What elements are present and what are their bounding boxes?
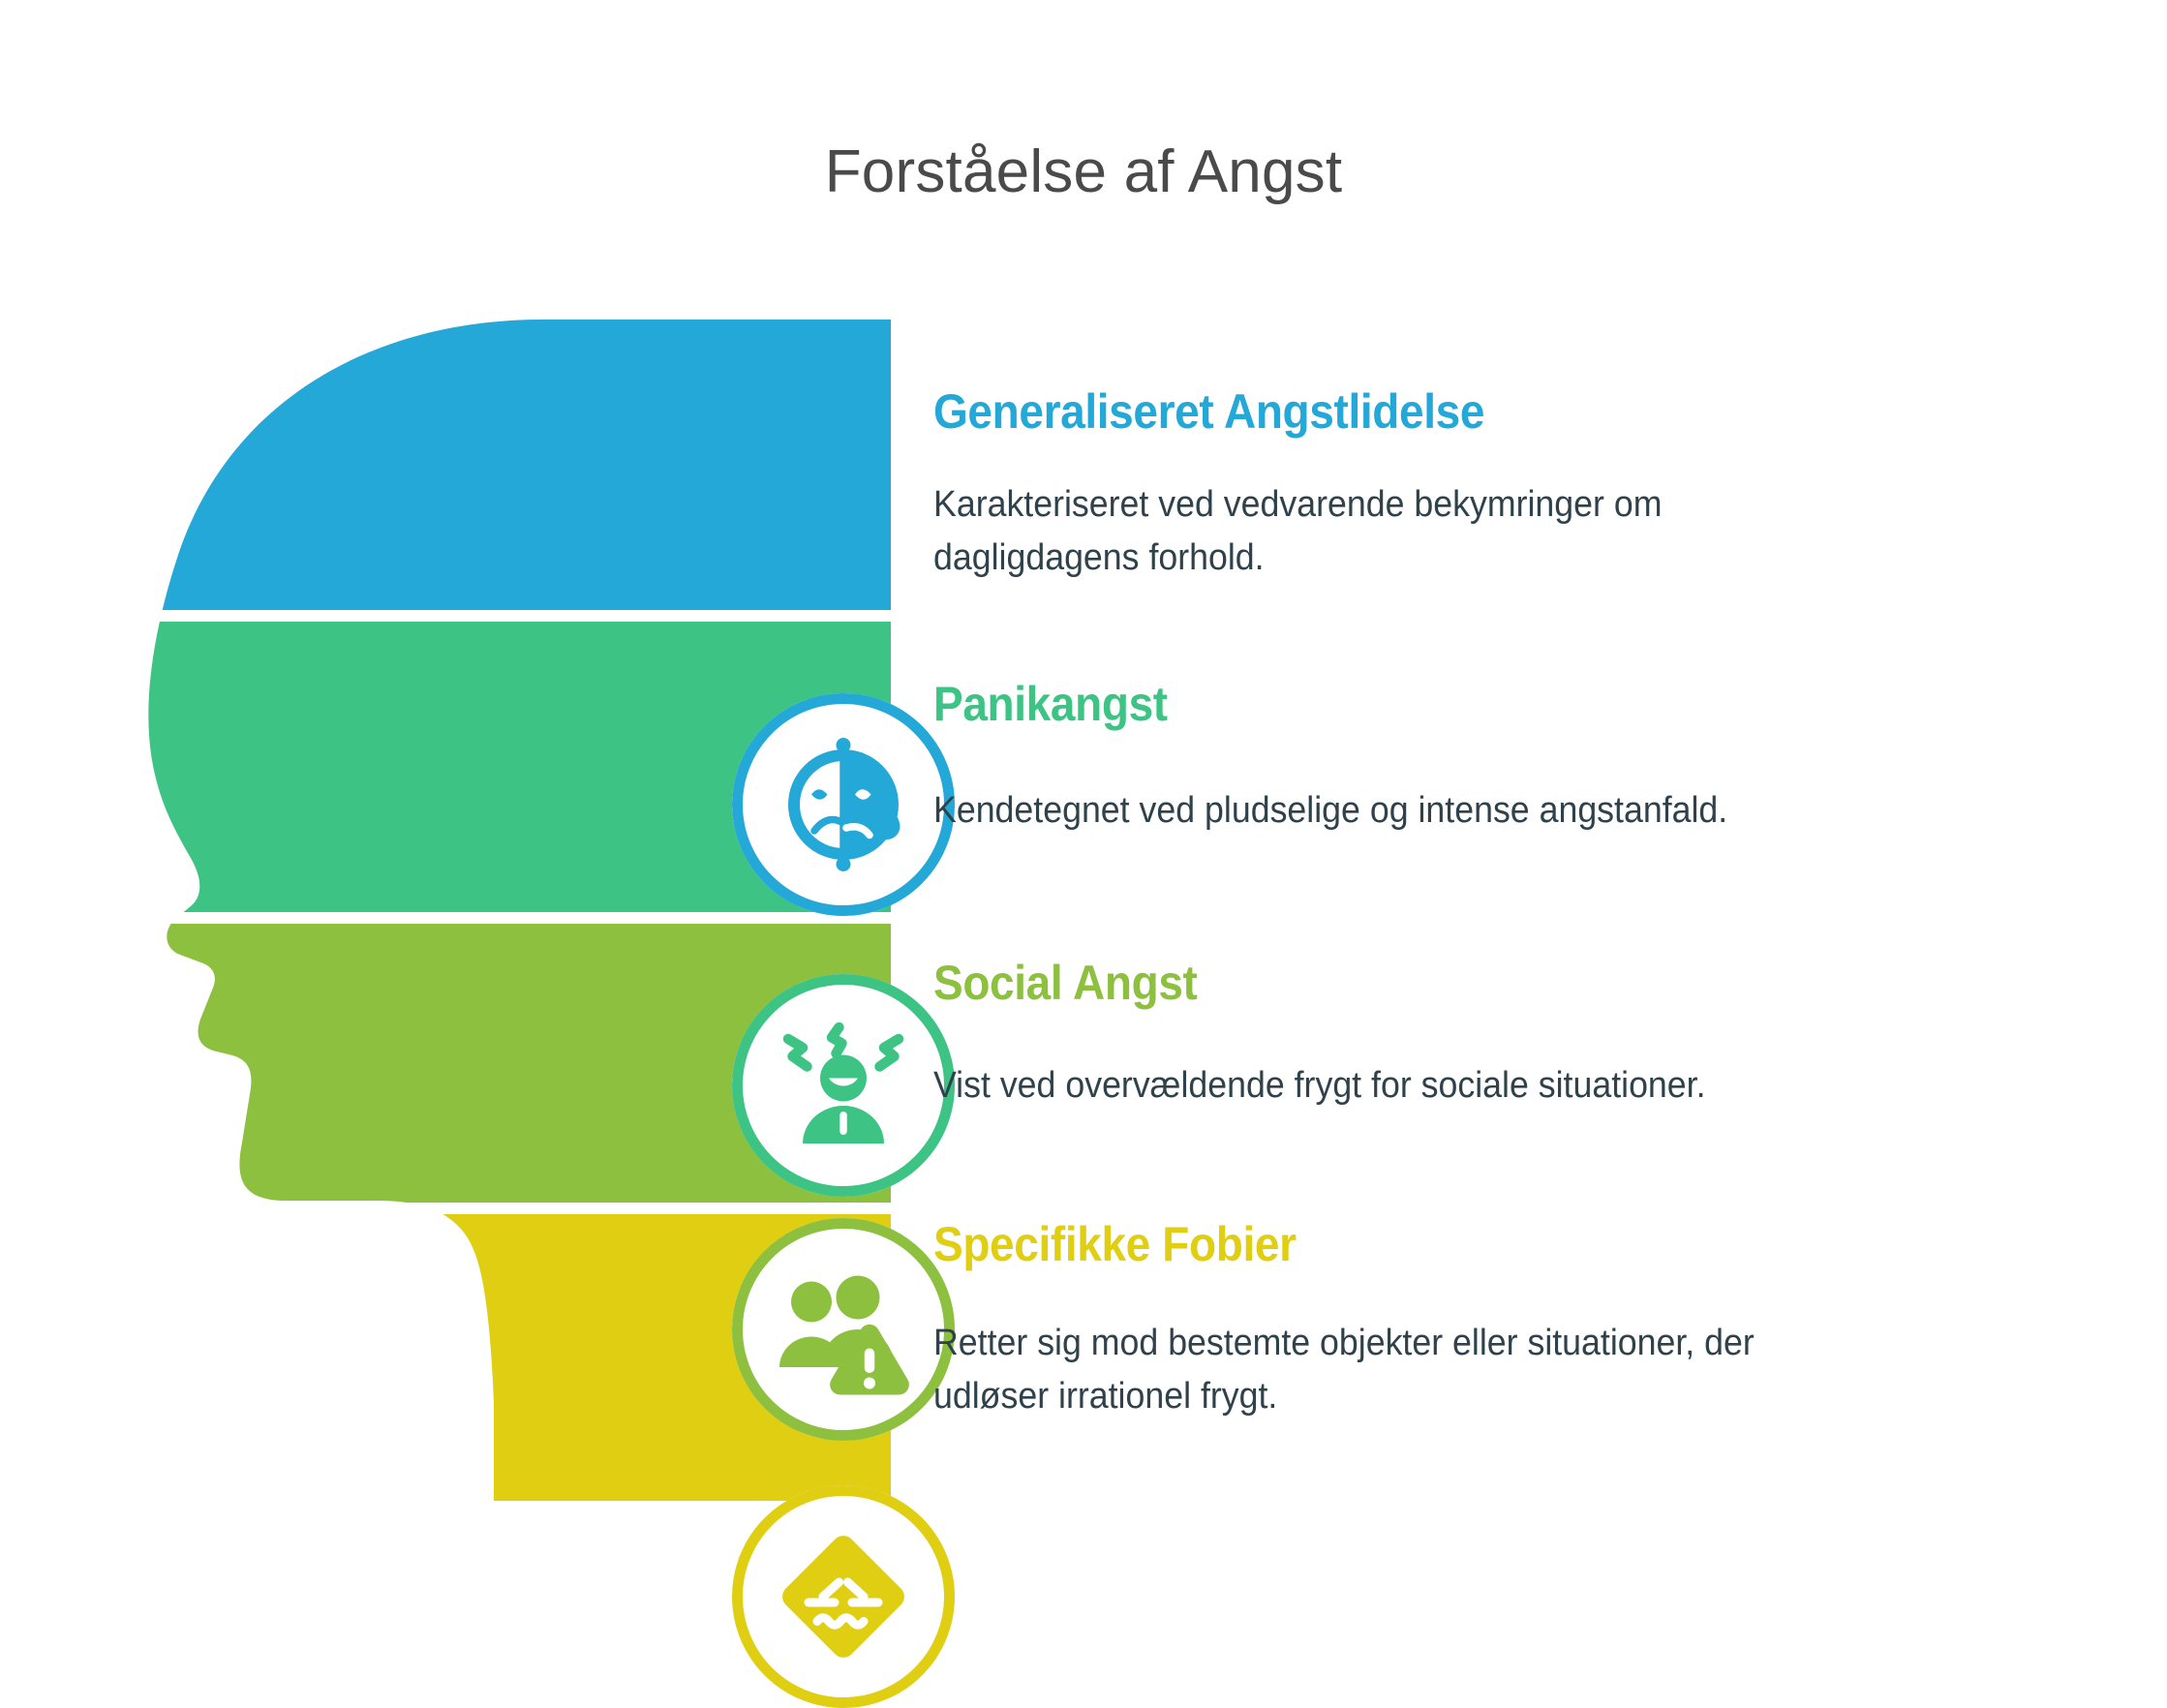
head-band-generaliseret-angstlidelse [87, 320, 891, 610]
head-silhouette-graphic [87, 320, 891, 1501]
infographic-canvas: Forståelse af Angst [0, 0, 2167, 1679]
section-heading: Panikangst [933, 678, 1967, 730]
section-body: Vist ved overvældende frygt for sociale … [933, 1059, 1862, 1113]
page-title: Forståelse af Angst [0, 137, 2167, 206]
two-people-warning-triangle-icon [771, 1257, 916, 1402]
section-heading: Social Angst [933, 957, 1967, 1009]
section-heading: Generaliseret Angstlidelse [933, 385, 1967, 438]
person-lightning-bolts-icon [771, 1013, 916, 1158]
section-panikangst: Panikangst Kendetegnet ved pludselige og… [933, 678, 2057, 838]
icon-badge-generaliseret-angstlidelse[interactable] [732, 693, 955, 916]
icon-badge-social-angst[interactable] [732, 1218, 955, 1441]
icon-badge-specifikke-fobier[interactable] [732, 1485, 955, 1708]
worried-face-sweat-drop-icon [771, 732, 916, 877]
section-generaliseret-angstlidelse: Generaliseret Angstlidelse Karakterisere… [933, 385, 2057, 585]
section-heading: Specifikke Fobier [933, 1218, 1967, 1270]
section-body: Kendetegnet ved pludselige og intense an… [933, 784, 1862, 838]
section-body: Retter sig mod bestemte objekter eller s… [933, 1317, 1862, 1423]
section-body: Karakteriseret ved vedvarende bekymringe… [933, 478, 1862, 585]
icon-badge-panikangst[interactable] [732, 974, 955, 1197]
diamond-warning-sign-worried-face-icon [771, 1524, 916, 1669]
section-specifikke-fobier: Specifikke Fobier Retter sig mod bestemt… [933, 1218, 2057, 1423]
band-edge-tabs [629, 320, 736, 1501]
section-social-angst: Social Angst Vist ved overvældende frygt… [933, 957, 2057, 1113]
